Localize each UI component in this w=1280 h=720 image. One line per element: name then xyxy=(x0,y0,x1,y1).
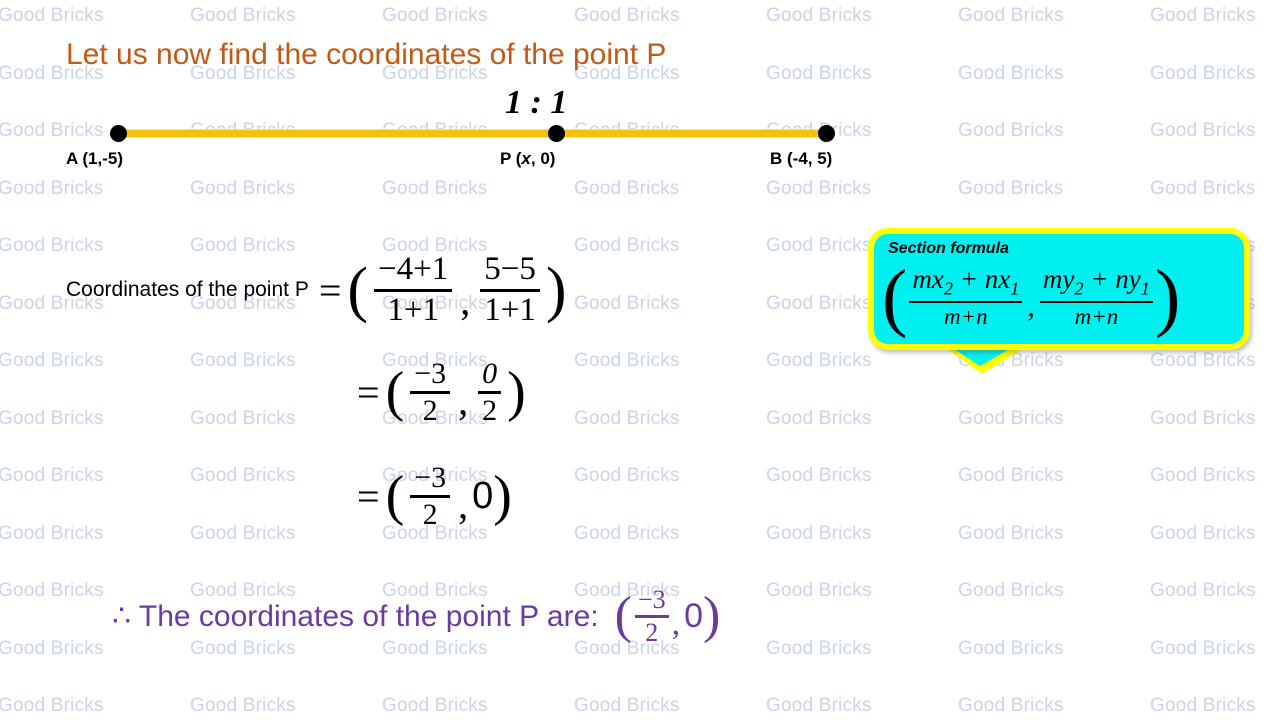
fraction-numerator: my2 + ny1 xyxy=(1040,264,1153,300)
point-p-label: P (x, 0) xyxy=(500,149,555,169)
subscript-1: 1 xyxy=(1141,278,1150,298)
fraction-denominator: m+n xyxy=(941,304,991,330)
fraction-numerator: 5−5 xyxy=(480,252,540,288)
subscript-2: 2 xyxy=(944,278,953,298)
conclusion-line: ∴ The coordinates of the point P are: ( … xyxy=(112,586,720,646)
point-a-label: A (1,-5) xyxy=(66,149,123,169)
open-paren: ( xyxy=(882,270,907,325)
y-value: 0 xyxy=(684,597,703,636)
equals-sign: = xyxy=(319,267,342,314)
fraction-conclusion: −3 2 xyxy=(635,586,669,646)
term-nx: nx xyxy=(985,264,1010,294)
fraction-y-1: 5−5 1+1 xyxy=(480,252,540,328)
fraction-numerator: −3 xyxy=(410,358,450,390)
equation-row-1: Coordinates of the point P = ( −4+1 1+1 … xyxy=(66,252,567,328)
fraction-bar xyxy=(1040,301,1153,303)
close-paren: ) xyxy=(493,475,512,519)
plus-sign: + xyxy=(960,264,978,294)
fraction-y-2: 0 2 xyxy=(478,358,501,428)
segment-diagram: 1 : 1 A (1,-5) P (x, 0) B (-4, 5) xyxy=(0,84,1280,179)
page-title: Let us now find the coordinates of the p… xyxy=(66,38,666,72)
coordinates-lead-text: Coordinates of the point P xyxy=(66,278,309,302)
fraction-numerator: −4+1 xyxy=(374,252,452,288)
fraction-numerator: −3 xyxy=(410,462,450,494)
point-a-dot xyxy=(110,125,127,142)
point-b-dot xyxy=(818,125,835,142)
open-paren: ( xyxy=(615,595,632,637)
equation-row-3: = ( −3 2 , 0 ) xyxy=(357,462,512,532)
ratio-label: 1 : 1 xyxy=(505,84,567,122)
conclusion-text: ∴ The coordinates of the point P are: xyxy=(112,599,599,634)
fraction-numerator: mx2 + nx1 xyxy=(909,264,1022,300)
fraction-denominator: 2 xyxy=(419,395,442,427)
open-paren: ( xyxy=(347,266,368,314)
comma-separator: , xyxy=(672,605,681,643)
fraction-x-3: −3 2 xyxy=(410,462,450,532)
point-p-dot xyxy=(548,125,565,142)
subscript-1: 1 xyxy=(1010,278,1019,298)
point-p-label-prefix: P ( xyxy=(500,149,521,168)
fraction-x-section: mx2 + nx1 m+n xyxy=(909,264,1022,330)
point-p-label-suffix: , 0) xyxy=(531,149,556,168)
close-paren: ) xyxy=(507,371,526,415)
slide-content: Let us now find the coordinates of the p… xyxy=(0,0,1280,720)
fraction-numerator: −3 xyxy=(635,586,669,614)
plus-sign: + xyxy=(1090,264,1108,294)
fraction-denominator: 2 xyxy=(419,499,442,531)
open-paren: ( xyxy=(386,475,405,519)
equals-sign: = xyxy=(357,369,380,416)
term-ny: ny xyxy=(1115,264,1140,294)
callout-formula: ( mx2 + nx1 m+n , my2 + ny1 m+n ) xyxy=(882,264,1180,330)
fraction-denominator: 2 xyxy=(642,619,661,647)
fraction-denominator: 1+1 xyxy=(383,293,443,329)
term-my: my xyxy=(1043,264,1074,294)
comma-separator: , xyxy=(458,481,468,528)
comma-separator: , xyxy=(458,377,468,424)
close-paren: ) xyxy=(703,595,720,637)
fraction-denominator: 1+1 xyxy=(480,293,540,329)
fraction-bar xyxy=(909,301,1022,303)
point-p-label-var: x xyxy=(521,149,530,168)
segment-line xyxy=(118,129,828,138)
fraction-denominator: 2 xyxy=(478,395,501,427)
close-paren: ) xyxy=(1155,270,1180,325)
point-b-label: B (-4, 5) xyxy=(770,149,832,169)
term-mx: mx xyxy=(912,264,943,294)
close-paren: ) xyxy=(546,266,567,314)
fraction-denominator: m+n xyxy=(1072,304,1122,330)
open-paren: ( xyxy=(386,371,405,415)
fraction-x-1: −4+1 1+1 xyxy=(374,252,452,328)
y-value: 0 xyxy=(472,475,493,518)
section-formula-callout: Section formula ( mx2 + nx1 m+n , my2 + … xyxy=(868,228,1250,350)
comma-separator: , xyxy=(1027,290,1035,324)
fraction-x-2: −3 2 xyxy=(410,358,450,428)
fraction-y-section: my2 + ny1 m+n xyxy=(1040,264,1153,330)
subscript-2: 2 xyxy=(1074,278,1083,298)
equals-sign: = xyxy=(357,473,380,520)
equation-row-2: = ( −3 2 , 0 2 ) xyxy=(357,358,526,428)
fraction-numerator: 0 xyxy=(478,358,501,390)
comma-separator: , xyxy=(460,277,470,324)
